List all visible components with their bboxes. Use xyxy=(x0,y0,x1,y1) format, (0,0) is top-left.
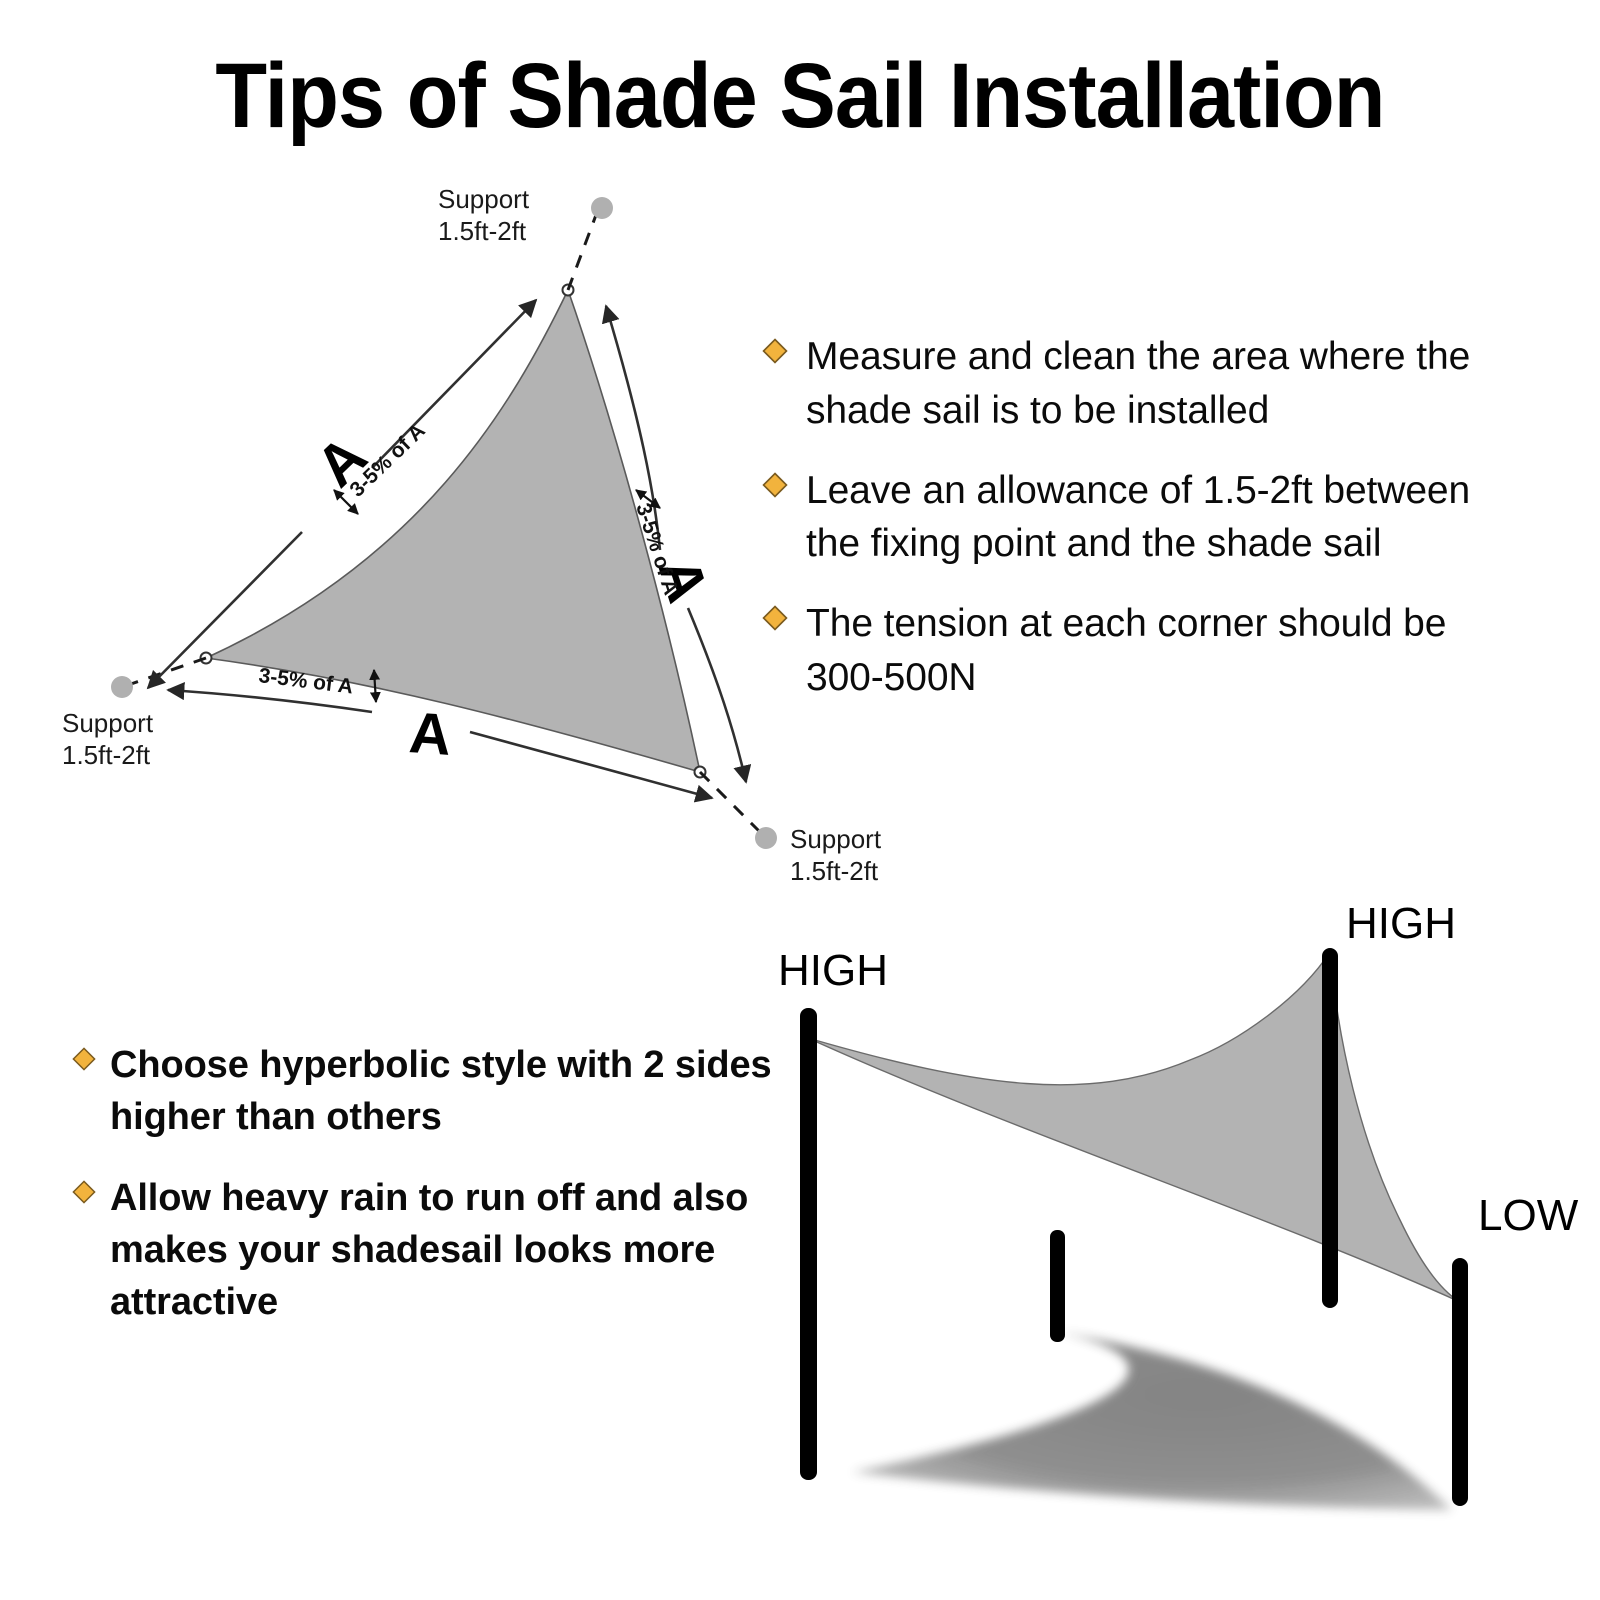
hyperbolic-sail-shape xyxy=(808,952,1460,1302)
support-dot-left xyxy=(111,676,133,698)
installation-tips-list-bottom: Choose hyperbolic style with 2 sides hig… xyxy=(72,1040,782,1358)
post-rear xyxy=(1050,1230,1065,1342)
post-right-high xyxy=(1322,948,1338,1308)
support-label-left-line2: 1.5ft-2ft xyxy=(62,740,151,770)
list-item: Leave an allowance of 1.5-2ft between th… xyxy=(762,464,1522,572)
diamond-bullet-icon xyxy=(72,1047,96,1071)
allowance-dash-bottom-right xyxy=(700,772,760,832)
hyperbolic-sail-diagram: HIGH HIGH LOW xyxy=(760,890,1600,1540)
support-label-top-line2: 1.5ft-2ft xyxy=(438,216,527,246)
post-right-low xyxy=(1452,1258,1468,1506)
post-left-high xyxy=(800,1008,817,1480)
post-label-right-low: LOW xyxy=(1478,1191,1579,1240)
allowance-dash-top xyxy=(568,215,596,290)
diamond-bullet-icon xyxy=(762,472,788,498)
list-item-label: Leave an allowance of 1.5-2ft between th… xyxy=(806,464,1522,572)
post-label-top-right-high: HIGH xyxy=(1346,899,1456,948)
support-dot-top xyxy=(591,197,613,219)
list-item: The tension at each corner should be 300… xyxy=(762,597,1522,705)
support-dot-bottom-right xyxy=(755,827,777,849)
installation-tips-list-top: Measure and clean the area where the sha… xyxy=(762,330,1522,731)
support-label-bottom-right-line1: Support xyxy=(790,824,882,854)
dimension-label-a-bottom: A xyxy=(407,700,453,768)
list-item: Choose hyperbolic style with 2 sides hig… xyxy=(72,1040,782,1143)
list-item: Allow heavy rain to run off and also mak… xyxy=(72,1173,782,1328)
support-label-top-line1: Support xyxy=(438,184,530,214)
list-item-label: Choose hyperbolic style with 2 sides hig… xyxy=(110,1040,782,1143)
sail-ground-shadow xyxy=(852,1332,1452,1510)
list-item: Measure and clean the area where the sha… xyxy=(762,330,1522,438)
allowance-dash-left xyxy=(128,658,206,685)
post-label-left-high: HIGH xyxy=(778,946,888,995)
diamond-bullet-icon xyxy=(72,1180,96,1204)
list-item-label: The tension at each corner should be 300… xyxy=(806,597,1522,705)
list-item-label: Allow heavy rain to run off and also mak… xyxy=(110,1173,782,1328)
diamond-bullet-icon xyxy=(762,605,788,631)
diamond-bullet-icon xyxy=(762,338,788,364)
support-label-bottom-right-line2: 1.5ft-2ft xyxy=(790,856,879,886)
page-title: Tips of Shade Sail Installation xyxy=(64,48,1536,145)
support-label-left-line1: Support xyxy=(62,708,154,738)
list-item-label: Measure and clean the area where the sha… xyxy=(806,330,1522,438)
